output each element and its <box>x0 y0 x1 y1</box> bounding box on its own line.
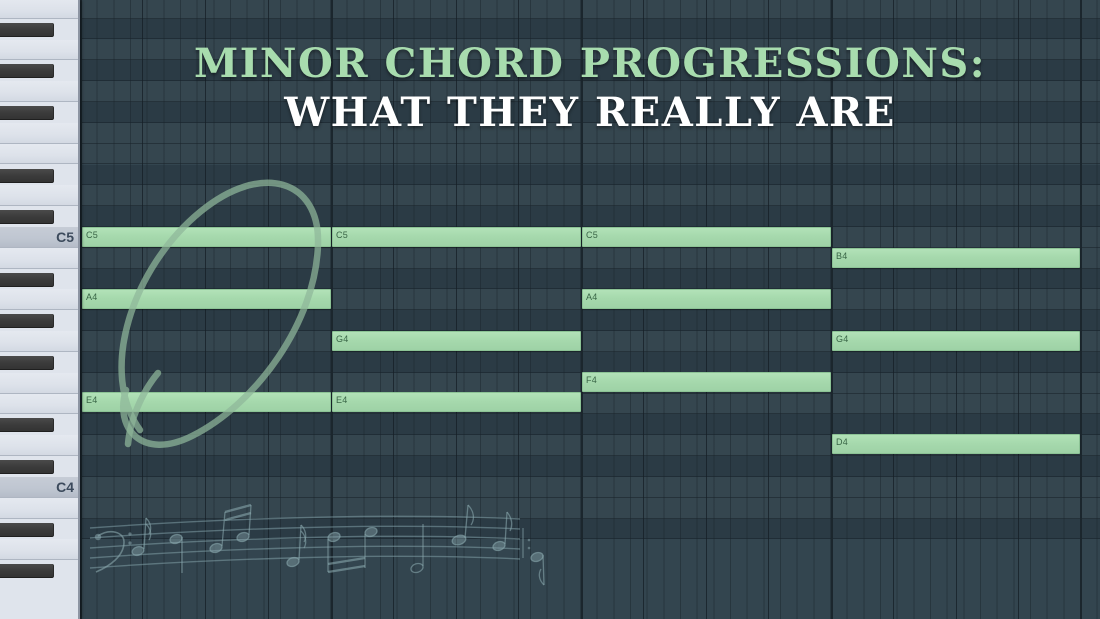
piano-key-white-g5[interactable] <box>0 81 80 102</box>
note-g4[interactable]: G4 <box>332 331 581 351</box>
piano-key-black-gs5[interactable] <box>0 64 54 78</box>
note-label: A4 <box>86 293 97 302</box>
title-line-2: WHAT THEY REALLY ARE <box>80 93 1100 133</box>
piano-key-black-fs4[interactable] <box>0 356 54 370</box>
grid-row <box>80 477 1100 498</box>
note-label: G4 <box>336 335 348 344</box>
grid-row <box>80 414 1100 435</box>
note-d4[interactable]: D4 <box>832 434 1080 454</box>
piano-key-label: C4 <box>56 479 74 495</box>
note-f4[interactable]: F4 <box>582 372 831 392</box>
piano-key-white-c5[interactable]: C5 <box>0 227 80 248</box>
piano-key-white-a4[interactable] <box>0 289 80 310</box>
piano-key-black-as5[interactable] <box>0 23 54 37</box>
grid-row <box>80 0 1100 19</box>
grid-row <box>80 144 1100 165</box>
title-line-1: MINOR CHORD PROGRESSIONS: <box>80 44 1100 84</box>
piano-key-white-g4[interactable] <box>0 331 80 352</box>
note-label: E4 <box>86 396 97 405</box>
piano-key-white-d4[interactable] <box>0 435 80 456</box>
piano-key-black-gs4[interactable] <box>0 314 54 328</box>
note-label: A4 <box>586 293 597 302</box>
grid-row <box>80 456 1100 477</box>
piano-key-black-gs3[interactable] <box>0 564 54 578</box>
piano-key-white-d5[interactable] <box>0 185 80 206</box>
piano-key-black-fs5[interactable] <box>0 106 54 120</box>
piano-key-white-a3[interactable] <box>0 539 80 560</box>
note-c5[interactable]: C5 <box>582 227 831 247</box>
note-a4[interactable]: A4 <box>82 289 331 309</box>
note-label: G4 <box>836 335 848 344</box>
note-g4[interactable]: G4 <box>832 331 1080 351</box>
piano-key-white-f4[interactable] <box>0 373 80 394</box>
grid-row <box>80 498 1100 519</box>
piano-key-white-b4[interactable] <box>0 248 80 269</box>
grid-row <box>80 185 1100 206</box>
note-label: E4 <box>336 396 347 405</box>
piano-key-black-ds5[interactable] <box>0 169 54 183</box>
piano-key-white-f5[interactable] <box>0 123 80 144</box>
grid-row <box>80 352 1100 373</box>
note-label: C5 <box>86 231 98 240</box>
piano-key-label: C5 <box>56 229 74 245</box>
note-c5[interactable]: C5 <box>82 227 331 247</box>
note-label: F4 <box>586 376 597 385</box>
page-title: MINOR CHORD PROGRESSIONS: WHAT THEY REAL… <box>80 44 1100 133</box>
piano-key-white-c4[interactable]: C4 <box>0 477 80 498</box>
note-e4[interactable]: E4 <box>82 392 331 412</box>
piano-key-black-ds4[interactable] <box>0 418 54 432</box>
note-c5[interactable]: C5 <box>332 227 581 247</box>
piano-key-black-as4[interactable] <box>0 273 54 287</box>
grid-row <box>80 165 1100 186</box>
note-e4[interactable]: E4 <box>332 392 581 412</box>
note-label: C5 <box>586 231 598 240</box>
note-b4[interactable]: B4 <box>832 248 1080 268</box>
note-label: D4 <box>836 438 848 447</box>
note-a4[interactable]: A4 <box>582 289 831 309</box>
piano-key-white-a5[interactable] <box>0 40 80 61</box>
grid-row <box>80 310 1100 331</box>
piano-key-white-e5[interactable] <box>0 144 80 165</box>
piano-roll-screenshot: C5A4E4C5G4E4C5A4F4B4G4D4 <box>0 0 1100 619</box>
grid-row <box>80 519 1100 540</box>
note-label: C5 <box>336 231 348 240</box>
piano-key-black-cs5[interactable] <box>0 210 54 224</box>
grid-row <box>80 19 1100 40</box>
piano-key-white-b5[interactable] <box>0 0 80 19</box>
piano-key-black-cs4[interactable] <box>0 460 54 474</box>
grid-row <box>80 269 1100 290</box>
grid-row <box>80 206 1100 227</box>
piano-key-white-e4[interactable] <box>0 394 80 415</box>
piano-key-black-as3[interactable] <box>0 523 54 537</box>
piano-key-white-b3[interactable] <box>0 498 80 519</box>
piano-keyboard[interactable]: C4C5 <box>0 0 80 619</box>
note-label: B4 <box>836 252 847 261</box>
